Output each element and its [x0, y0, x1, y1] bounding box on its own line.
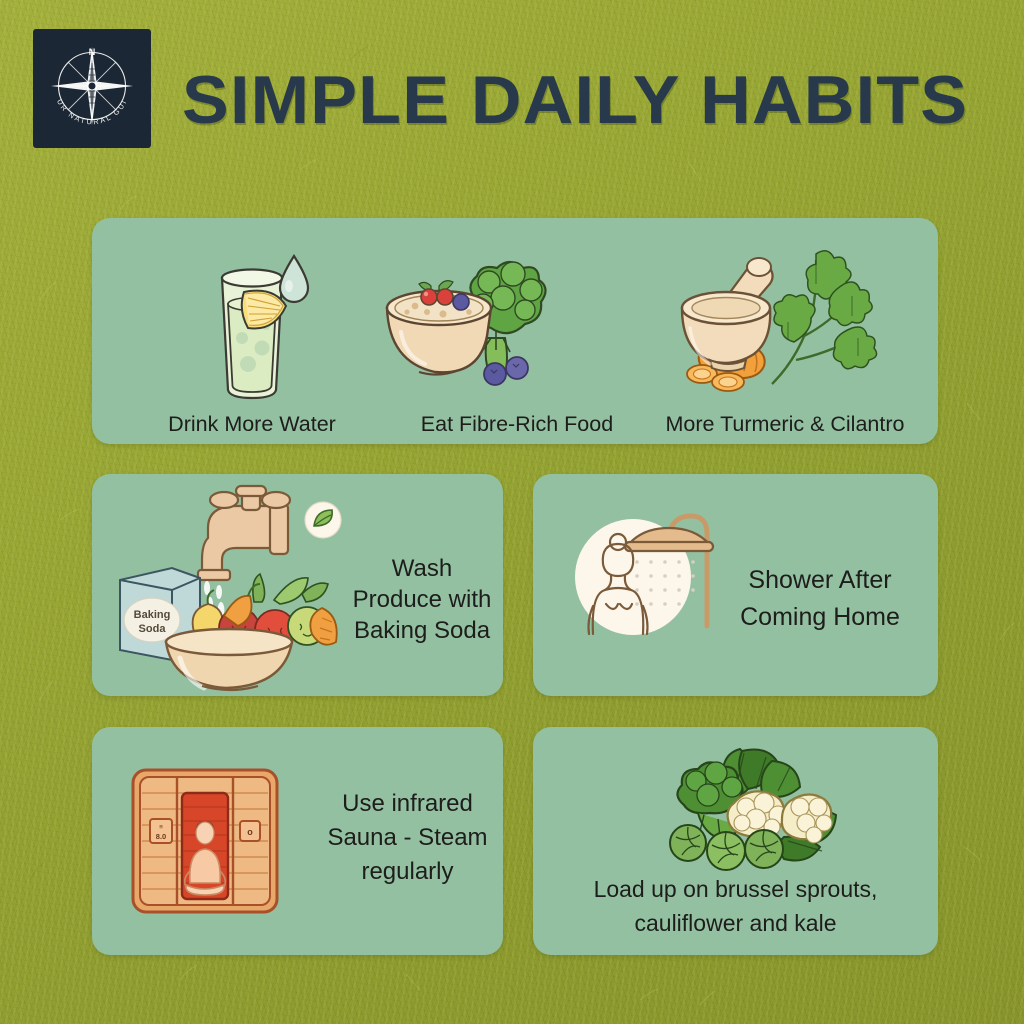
compass-north-label: N	[89, 47, 96, 57]
brand-logo[interactable]: N YOUR NATURAL GUIDE	[33, 29, 151, 148]
mixing-bowl	[166, 629, 292, 690]
card-sauna-label-line2: Sauna - Steam	[320, 821, 495, 855]
card-sauna-label-line1: Use infrared	[320, 787, 495, 821]
cruciferous-vegetables-icon	[638, 745, 848, 873]
card-shower-label-line2: Coming Home	[730, 599, 910, 636]
card-shower-after-home[interactable]: Shower After Coming Home	[533, 474, 938, 696]
habit-label: Drink More Water	[102, 412, 402, 437]
card-sauna-label: Use infrared Sauna - Steam regularly	[320, 787, 495, 889]
oatmeal-bowl	[387, 281, 491, 375]
water-droplet	[280, 256, 308, 302]
baking-soda-box-label-line2: Soda	[139, 623, 167, 635]
logo-arc-text: YOUR NATURAL GUIDE	[29, 22, 129, 126]
cauliflower-heads	[728, 791, 832, 843]
oatmeal-bowl-broccoli-icon	[379, 246, 594, 396]
card-wash-produce[interactable]: Baking Soda	[92, 474, 503, 696]
baking-soda-box-label-line1: Baking	[134, 609, 171, 621]
sauna-panel-left-value: 8.0	[156, 832, 166, 841]
compass-rose-icon: N YOUR NATURAL GUIDE	[33, 29, 151, 148]
card-wash-label: Wash Produce with Baking Soda	[350, 553, 494, 646]
sauna-control-panel-left: ≡ 8.0	[150, 819, 172, 843]
card-infrared-sauna[interactable]: ≡ 8.0 o Use infrared Sauna - Steam regul…	[92, 727, 503, 955]
leaf-badge-icon	[305, 502, 341, 538]
svg-text:≡: ≡	[159, 824, 163, 831]
cilantro-sprig	[772, 251, 877, 384]
card-shower-label: Shower After Coming Home	[730, 562, 910, 636]
infographic-canvas: N YOUR NATURAL GUIDE SIMPLE DAILY HABITS	[0, 0, 1024, 1024]
card-shower-label-line1: Shower After	[730, 562, 910, 599]
card-sauna-label-line3: regularly	[320, 855, 495, 889]
brussels-sprouts	[670, 825, 783, 870]
mortar-pestle-turmeric-cilantro-icon	[676, 244, 894, 396]
faucet-icon	[198, 486, 290, 580]
card-wash-label-line3: Baking Soda	[350, 615, 494, 646]
sauna-control-panel-right: o	[240, 821, 260, 841]
faucet-bowl-produce-baking-soda-icon: Baking Soda	[106, 482, 346, 688]
card-cruciferous-vegetables[interactable]: Load up on brussel sprouts, cauliflower …	[533, 727, 938, 955]
card-veg-label: Load up on brussel sprouts, cauliflower …	[533, 872, 938, 940]
card-wash-label-line2: Produce with	[350, 584, 494, 615]
card-veg-label-line2: cauliflower and kale	[533, 906, 938, 940]
shower-woman-icon	[575, 506, 715, 648]
sauna-panel-right-value: o	[247, 827, 253, 837]
infrared-sauna-cabin-icon: ≡ 8.0 o	[130, 767, 280, 915]
page-title: SIMPLE DAILY HABITS	[182, 55, 924, 145]
habit-label: Eat Fibre-Rich Food	[367, 412, 667, 437]
card-veg-label-line1: Load up on brussel sprouts,	[533, 872, 938, 906]
card-row-one[interactable]: Drink More Water	[92, 218, 938, 444]
habit-label: More Turmeric & Cilantro	[632, 412, 938, 437]
card-wash-label-line1: Wash	[350, 553, 494, 584]
water-glass-lemon-icon	[192, 242, 312, 407]
